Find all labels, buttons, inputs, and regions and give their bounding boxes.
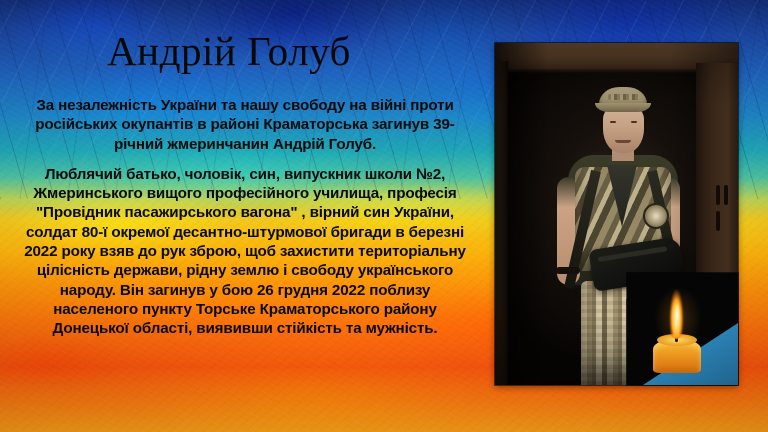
- page-title: Андрій Голуб: [0, 30, 458, 73]
- memorial-poster: Андрій Голуб За незалежність України та …: [0, 0, 768, 432]
- memorial-candle-photo: [627, 273, 738, 385]
- soldier-camo-cap: [599, 87, 647, 109]
- memorial-body-text: За незалежність України та нашу свободу …: [22, 96, 468, 339]
- paragraph-1: За незалежність України та нашу свободу …: [22, 96, 468, 154]
- soldier-mouth: [615, 140, 631, 143]
- candle-body: [653, 339, 701, 373]
- soldier-eye-left: [610, 121, 616, 123]
- paragraph-2: Люблячий батько, чоловік, син, випускник…: [22, 165, 468, 339]
- text-column: Андрій Голуб За незалежність України та …: [0, 0, 486, 432]
- soldier-wristband: [556, 267, 580, 274]
- soldier-unit-patch: [643, 203, 669, 229]
- candle-flame-core: [674, 301, 680, 327]
- soldier-eye-right: [631, 121, 637, 123]
